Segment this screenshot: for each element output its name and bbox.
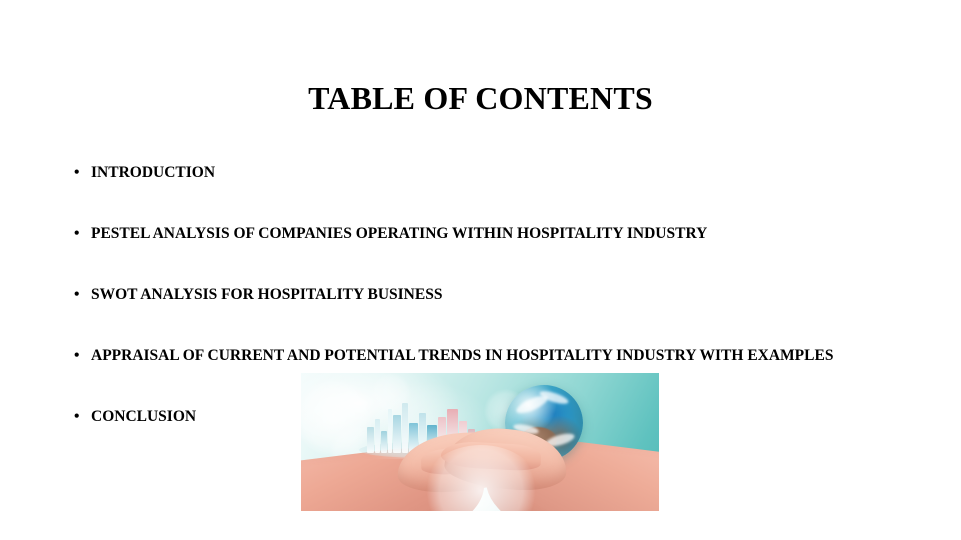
city-building [393,415,401,453]
bullet-icon: • [74,339,79,372]
list-item[interactable]: • PESTEL ANALYSIS OF COMPANIES OPERATING… [70,217,892,250]
bullet-icon: • [74,217,79,250]
slide-image-hands-city-globe [301,373,659,511]
list-item-label: APPRAISAL OF CURRENT AND POTENTIAL TREND… [91,339,907,372]
bokeh-highlight-icon [301,379,373,457]
page-title: TABLE OF CONTENTS [0,78,961,118]
slide: TABLE OF CONTENTS • INTRODUCTION • PESTE… [0,0,961,540]
city-building [381,431,387,453]
city-building [388,409,392,453]
city-building [402,403,408,453]
bullet-icon: • [74,156,79,189]
bullet-icon: • [74,278,79,311]
list-item-label: PESTEL ANALYSIS OF COMPANIES OPERATING W… [91,217,892,250]
list-item[interactable]: • INTRODUCTION [70,156,892,189]
list-item-label: SWOT ANALYSIS FOR HOSPITALITY BUSINESS [91,278,892,311]
list-item-label: INTRODUCTION [91,156,892,189]
list-item[interactable]: • SWOT ANALYSIS FOR HOSPITALITY BUSINESS [70,278,892,311]
city-building [367,427,374,453]
list-item[interactable]: • APPRAISAL OF CURRENT AND POTENTIAL TRE… [70,339,892,372]
bullet-icon: • [74,400,79,433]
city-building [375,419,380,453]
